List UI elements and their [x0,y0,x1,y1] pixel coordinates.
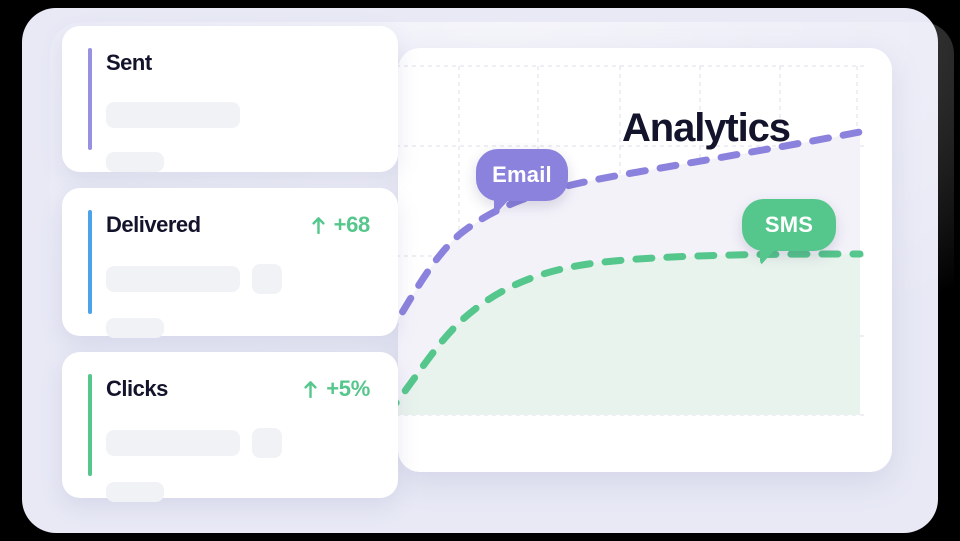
bubble-tail-icon [760,244,780,266]
card-header: Clicks +5% [106,374,374,404]
bubble-tail-icon [494,194,514,216]
metric-card-delivered[interactable]: Delivered +68 [62,188,398,336]
card-delta-value: +5% [326,376,370,402]
card-placeholder-content [106,264,374,338]
metric-card-list: Sent Delivered +68 [62,26,398,498]
placeholder-bar [106,266,240,292]
placeholder-row [106,428,374,458]
card-accent-bar [88,374,92,476]
chart-legend-email[interactable]: Email [476,149,568,201]
chart-legend-sms[interactable]: SMS [742,199,836,251]
placeholder-bar-small [106,482,164,502]
placeholder-bar-small [106,318,164,338]
card-header: Delivered +68 [106,210,374,240]
card-delta-badge: +68 [312,212,374,238]
placeholder-box [252,264,282,294]
card-accent-bar [88,48,92,150]
card-placeholder-content [106,428,374,502]
placeholder-bar [106,430,240,456]
card-accent-bar [88,210,92,314]
placeholder-bar [106,102,240,128]
metric-card-sent[interactable]: Sent [62,26,398,172]
card-title: Delivered [106,212,201,238]
chart-legend-email-label: Email [492,162,552,188]
card-title: Clicks [106,376,168,402]
arrow-up-icon [312,217,325,234]
metric-card-clicks[interactable]: Clicks +5% [62,352,398,498]
arrow-up-icon [304,381,317,398]
card-delta-badge: +5% [304,376,374,402]
card-placeholder-content [106,102,374,172]
card-title: Sent [106,50,152,76]
card-header: Sent [106,48,374,78]
placeholder-row [106,264,374,294]
page-title: Analytics [622,106,790,151]
card-delta-value: +68 [334,212,370,238]
analytics-panel: Analytics [398,48,892,472]
placeholder-row [106,102,374,128]
chart-legend-sms-label: SMS [765,212,813,238]
placeholder-box [252,428,282,458]
placeholder-bar-small [106,152,164,172]
